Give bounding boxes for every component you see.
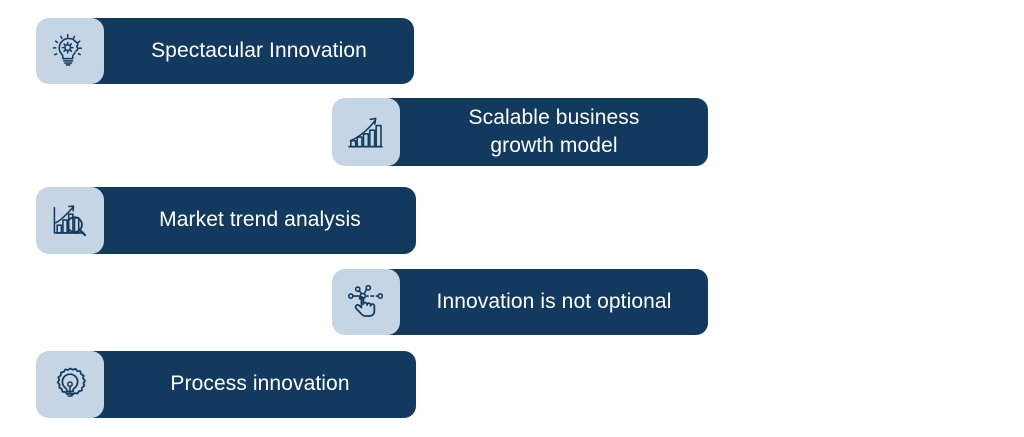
item-bar: Market trend analysis <box>72 187 416 254</box>
bar-chart-growth-arrow-icon <box>344 110 388 154</box>
item-icon-tile <box>332 269 400 335</box>
item-bar: Spectacular Innovation <box>72 18 414 84</box>
list-item[interactable]: Process innovation <box>36 351 416 418</box>
chart-magnifier-icon <box>48 199 92 243</box>
item-bar: Process innovation <box>72 351 416 418</box>
item-label: Market trend analysis <box>72 206 416 235</box>
item-bar: Innovation is not optional <box>368 269 708 335</box>
list-item[interactable]: Innovation is not optional <box>332 269 708 335</box>
item-icon-tile <box>36 187 104 254</box>
list-item[interactable]: Scalable business growth model <box>332 98 708 166</box>
list-item[interactable]: Spectacular Innovation <box>36 18 414 84</box>
item-label: Scalable business growth model <box>368 104 708 160</box>
item-icon-tile <box>332 98 400 166</box>
item-icon-tile <box>36 351 104 418</box>
list-item[interactable]: Market trend analysis <box>36 187 416 254</box>
item-label: Innovation is not optional <box>368 288 708 317</box>
item-icon-tile <box>36 18 104 84</box>
item-label: Spectacular Innovation <box>72 37 414 66</box>
item-label: Process innovation <box>72 370 416 399</box>
network-nodes-hand-pointer-icon <box>344 280 388 324</box>
infographic-stage: Spectacular Innovation <box>0 0 1024 437</box>
gear-lightbulb-icon <box>48 363 92 407</box>
head-lightbulb-gear-icon <box>48 29 92 73</box>
item-bar: Scalable business growth model <box>368 98 708 166</box>
